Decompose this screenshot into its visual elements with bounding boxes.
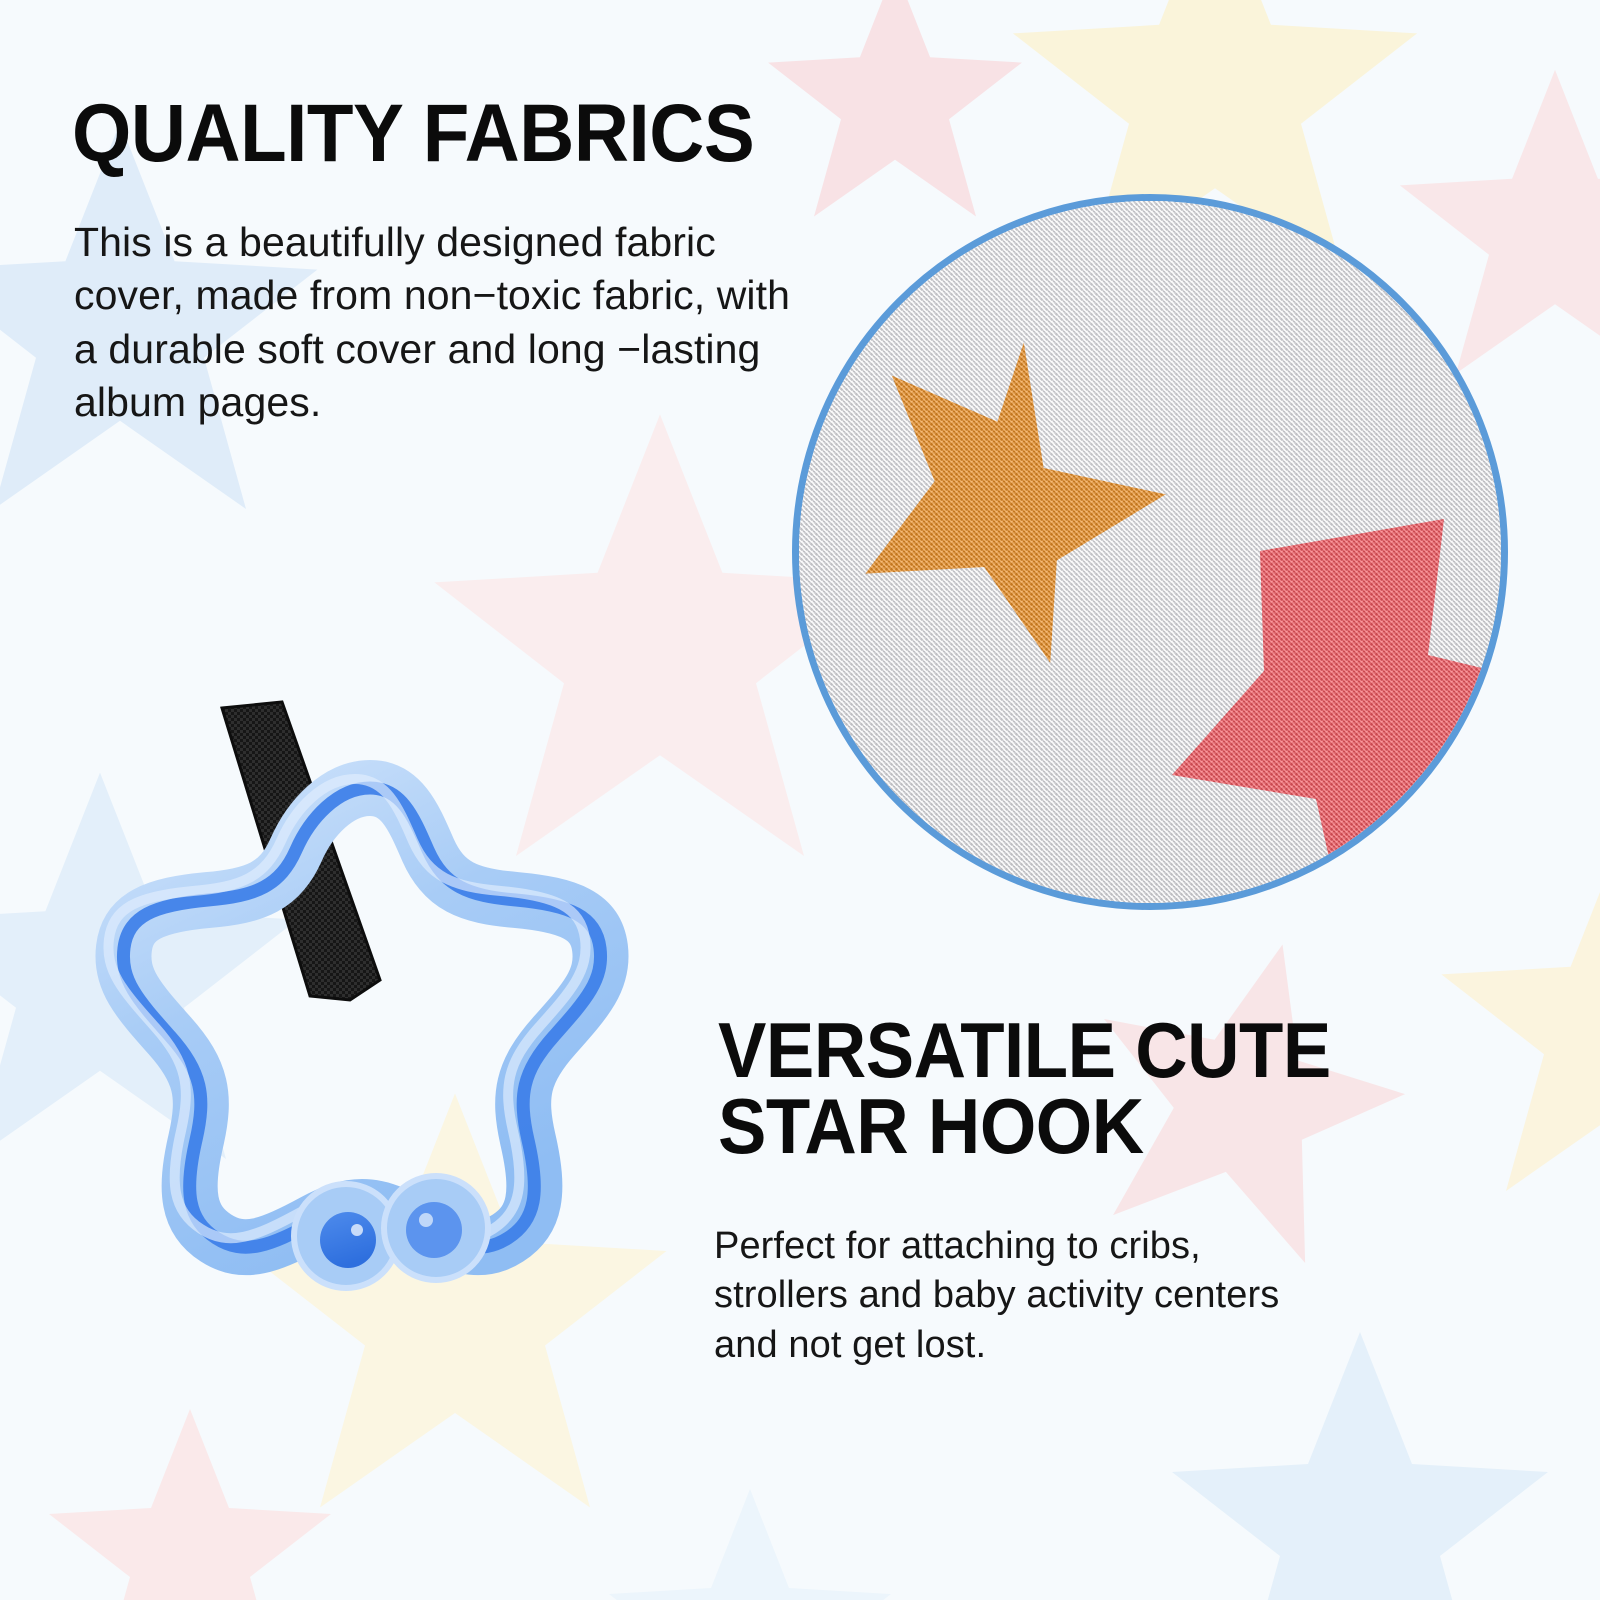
clasp-knob-right <box>384 1176 488 1280</box>
quality-fabrics-body: This is a beautifully designed fabric co… <box>74 216 794 429</box>
quality-fabrics-heading: QUALITY FABRICS <box>72 94 754 174</box>
pastel-star-pink-top <box>760 0 1030 230</box>
blue-star-hook <box>30 700 710 1500</box>
star-hook-heading: VERSATILE CUTE STAR HOOK <box>718 1012 1331 1165</box>
star-hook-body: Perfect for attaching to cribs, stroller… <box>714 1222 1334 1370</box>
orange-fabric-star <box>839 321 1169 681</box>
infographic-canvas: QUALITY FABRICS This is a beautifully de… <box>0 0 1600 1600</box>
fabric-swatch-circle <box>792 194 1508 910</box>
red-fabric-star <box>1154 511 1508 910</box>
